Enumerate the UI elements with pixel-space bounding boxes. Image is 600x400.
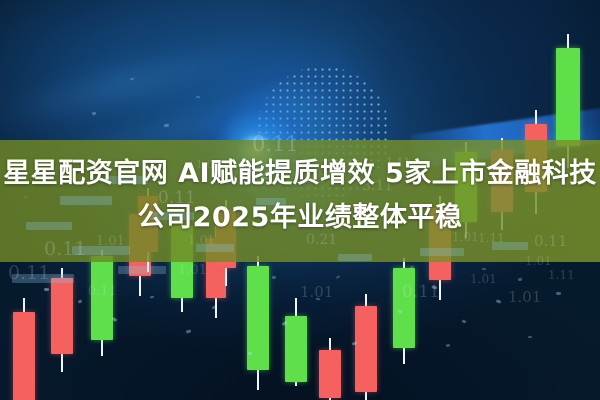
candlestick-up xyxy=(247,256,269,390)
headline-line-1: 星星配资官网 AI赋能提质增效 5家上市金融科技 xyxy=(0,152,600,196)
candlestick-down xyxy=(51,268,73,372)
page-title: 星星配资官网 AI赋能提质增效 5家上市金融科技 公司2025年业绩整体平稳 xyxy=(0,152,600,240)
candle-body xyxy=(556,48,580,146)
candle-body xyxy=(393,268,415,348)
candlestick-up xyxy=(393,258,415,364)
candlestick-down xyxy=(13,298,35,400)
candle-body xyxy=(247,266,269,370)
candle-body xyxy=(285,316,307,382)
candle-body xyxy=(13,312,35,400)
candlestick-down xyxy=(319,338,341,400)
candlestick-up xyxy=(285,298,307,386)
candle-body xyxy=(91,256,113,340)
candlestick-down xyxy=(355,294,377,400)
candlestick-up xyxy=(91,250,113,356)
headline-line-2: 公司2025年业绩整体平稳 xyxy=(0,196,600,240)
candle-body xyxy=(319,350,341,398)
candle-body xyxy=(355,306,377,392)
candle-body xyxy=(51,278,73,354)
promo-banner: 0.110.110.111.011.011.010.210.110.213.11… xyxy=(0,0,600,400)
